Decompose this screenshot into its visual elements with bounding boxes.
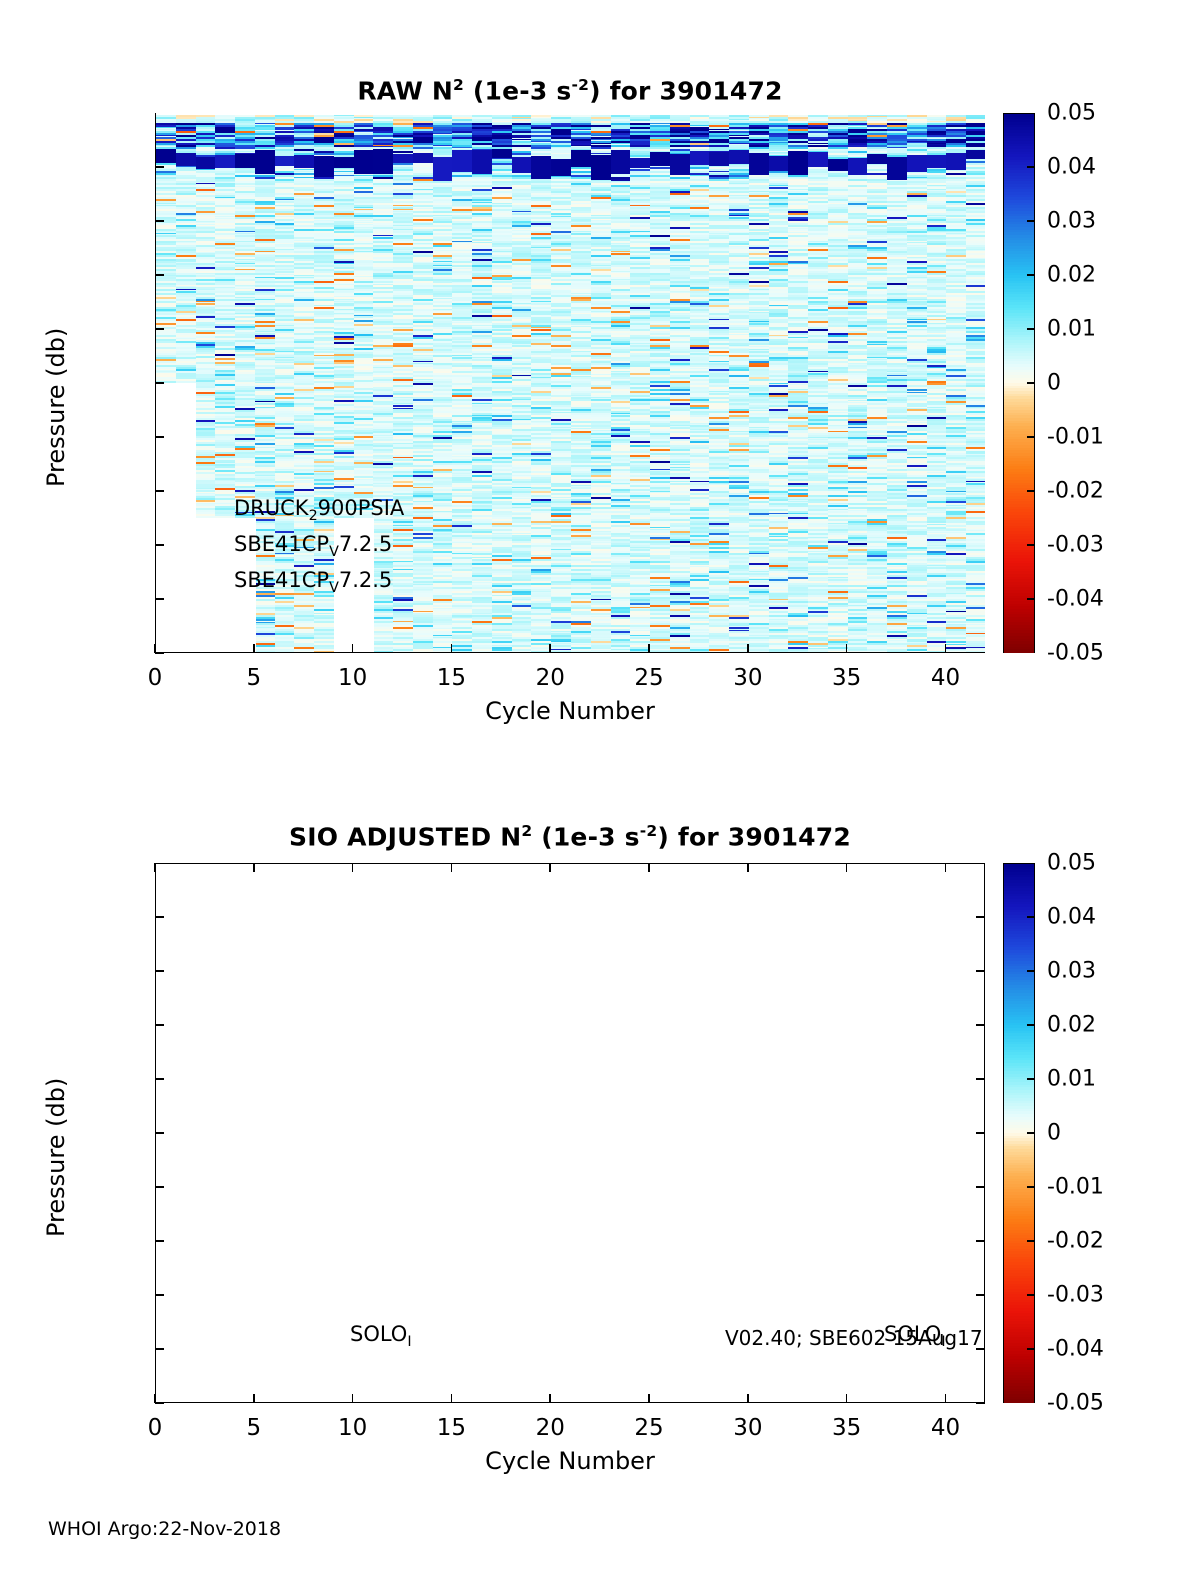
heatmap-cell [354,150,374,173]
heatmap-cell [393,154,413,164]
heatmap-cell [512,157,532,173]
heatmap-column [433,113,453,652]
heatmap-column [452,113,472,652]
heatmap-column [393,113,413,652]
heatmap-cell [314,651,334,652]
heatmap-cell [512,651,532,652]
heatmap-cell [294,155,314,168]
heatmap-cell [235,154,255,168]
heatmap-column [531,113,551,652]
heatmap-cell [275,156,295,166]
heatmap-cell [452,150,472,172]
heatmap-cell [433,157,453,181]
heatmap-cell [472,150,492,174]
heatmap-cell [373,149,393,174]
heatmap-cell [393,651,413,652]
heatmap-column [551,113,571,652]
heatmap-cell [531,156,551,179]
heatmap-cell [373,651,393,652]
heatmap-cell [334,158,354,168]
heatmap-cell [472,651,492,652]
raw-plot-title: RAW N2 (1e-3 s-2) for 3901472 [155,76,985,105]
heatmap-cell [314,156,334,178]
heatmap-column [472,113,492,652]
heatmap-cell [255,150,275,174]
heatmap-cell [156,149,176,163]
heatmap-column [512,113,532,652]
heatmap-cell [413,651,433,652]
heatmap-cell [294,651,314,652]
heatmap-cell [196,157,216,169]
heatmap-column [413,113,433,652]
heatmap-cell [275,651,295,652]
heatmap-cell [492,651,512,652]
heatmap-cell [215,155,235,168]
heatmap-cell [413,153,433,163]
heatmap-cell [452,651,472,652]
heatmap-cell [492,149,512,158]
heatmap-cell [255,651,275,652]
heatmap-column [492,113,512,652]
heatmap-cell [176,153,196,166]
